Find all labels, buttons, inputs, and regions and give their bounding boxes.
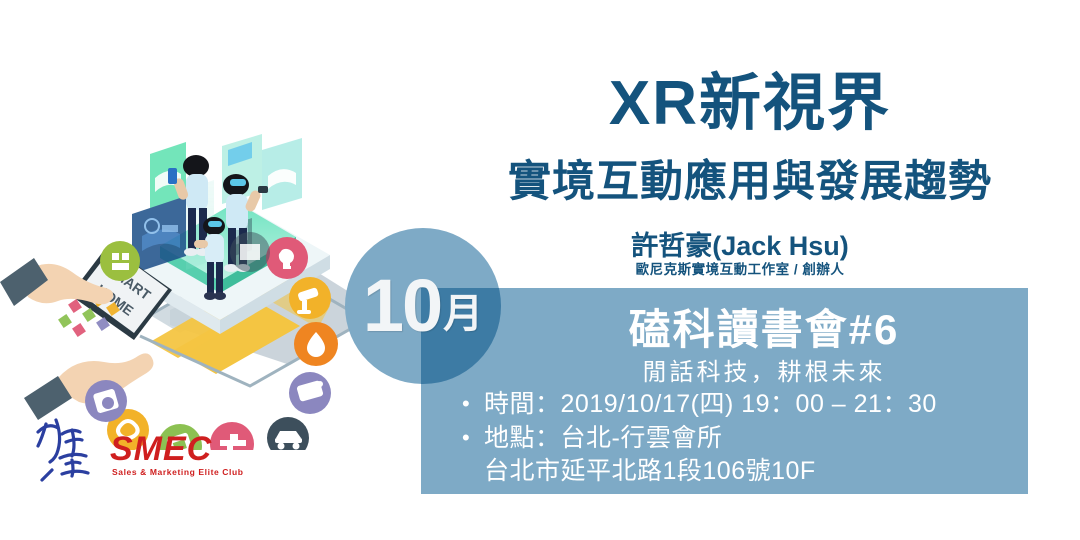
event-tagline: 閒話科技，耕根未來 (500, 352, 1028, 387)
location-label: 地點： (484, 424, 561, 452)
feature-icon-plug (100, 241, 140, 281)
feature-icon-faucet (210, 422, 254, 450)
list-item-location-text: 地點：台北-行雲會所 (484, 422, 1032, 456)
smec-tagline: Sales & Marketing Elite Club (112, 467, 244, 477)
month-number: 10 (363, 269, 441, 343)
month-badge-label: 10 月 (345, 228, 501, 384)
page-title: XR新視界 (430, 72, 1070, 135)
location-value: 台北-行雲會所 (561, 424, 723, 452)
feature-icon-lightbulb (266, 237, 308, 279)
time-label: 時間： (484, 390, 561, 418)
event-address: 台北市延平北路1段106號10F (462, 455, 1032, 489)
month-unit: 月 (441, 278, 483, 334)
smec-wordmark: SMEC (110, 432, 212, 466)
smart-home-xr-illustration: SMART HOME (0, 50, 370, 450)
speaker-organization: 歐尼克斯實境互動工作室 / 創辦人 (430, 258, 1050, 278)
list-item-time-text: 時間：2019/10/17(四) 19：00 – 21：30 (484, 388, 1032, 422)
poster-canvas: SMART HOME (0, 0, 1080, 540)
event-details-list: • 時間：2019/10/17(四) 19：00 – 21：30 • 地點：台北… (462, 388, 1032, 489)
xingyun-calligraphy-icon (32, 412, 104, 486)
feature-icon-fan (230, 232, 270, 272)
feature-icon-car (267, 417, 309, 450)
feature-icon-security-camera (289, 277, 331, 319)
list-item-location: • 地點：台北-行雲會所 (462, 422, 1032, 456)
feature-icon-remote-control (289, 372, 331, 414)
time-value: 2019/10/17(四) 19：00 – 21：30 (561, 390, 937, 418)
list-item-time: • 時間：2019/10/17(四) 19：00 – 21：30 (462, 388, 1032, 422)
event-title: 磕科讀書會#6 (500, 296, 1028, 357)
bullet-glyph: • (462, 388, 484, 420)
smec-logo: SMEC Sales & Marketing Elite Club (32, 412, 212, 492)
page-subtitle: 實境互動應用與發展趨勢 (430, 160, 1070, 205)
bullet-glyph: • (462, 422, 484, 454)
feature-icon-water-drop (294, 322, 338, 366)
